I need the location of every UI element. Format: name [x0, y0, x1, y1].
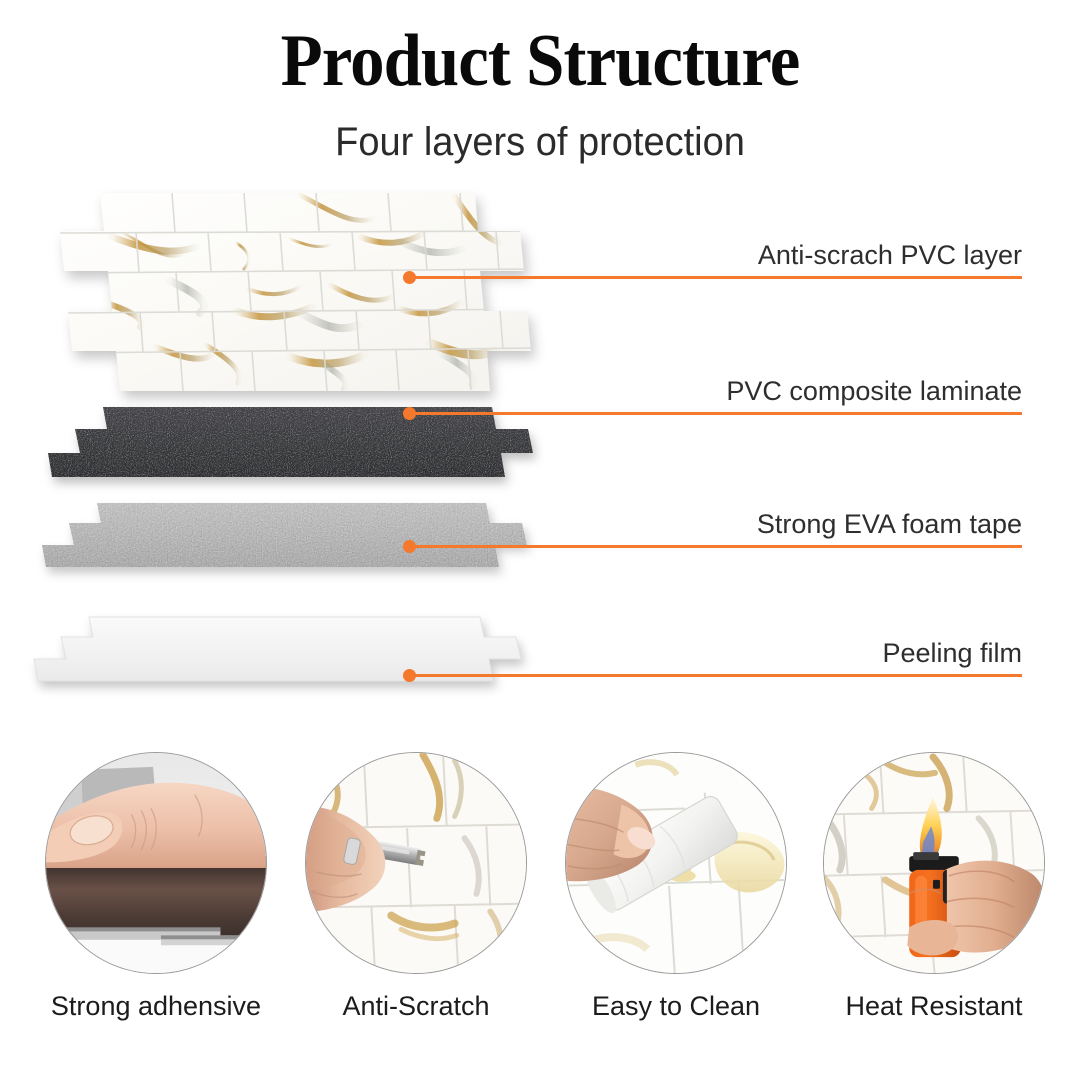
photo-key-scratching-tile — [306, 753, 526, 973]
layer-label-text: Anti-scrach PVC layer — [758, 240, 1022, 271]
layer-label-anti-scratch-pvc: Anti-scrach PVC layer — [622, 218, 1022, 278]
feature-strong-adhesive[interactable]: Strong adhensive — [42, 752, 270, 1022]
feature-heat-resistant[interactable]: Heat Resistant — [820, 752, 1048, 1022]
layer-label-rule — [622, 674, 1022, 676]
page-title: Product Structure — [38, 0, 1042, 98]
header: Product Structure Four layers of protect… — [0, 0, 1080, 162]
feature-row: Strong adhensive — [0, 752, 1080, 1080]
feature-photo-strong-adhesive — [45, 752, 267, 974]
feature-caption: Heat Resistant — [820, 991, 1048, 1022]
feature-caption: Easy to Clean — [562, 991, 790, 1022]
layer-label-eva-foam-tape: Strong EVA foam tape — [622, 487, 1022, 547]
layer-label-peeling-film: Peeling film — [622, 616, 1022, 676]
exploded-layer-stack — [0, 185, 560, 730]
layer-eva-foam-tape — [42, 503, 527, 567]
layer-label-text: Strong EVA foam tape — [757, 509, 1022, 540]
layer-stack-svg — [0, 185, 560, 730]
layer-label-rule — [622, 412, 1022, 414]
layer-label-rule — [622, 545, 1022, 547]
layer-label-rule — [622, 276, 1022, 278]
feature-photo-heat-resistant — [823, 752, 1045, 974]
photo-lighter-flame-tile — [824, 753, 1044, 973]
layer-pvc-composite-laminate — [48, 407, 533, 477]
feature-easy-to-clean[interactable]: Easy to Clean — [562, 752, 790, 1022]
feature-photo-anti-scratch — [305, 752, 527, 974]
photo-wiping-tile — [566, 753, 786, 973]
layer-label-pvc-composite-laminate: PVC composite laminate — [622, 354, 1022, 414]
product-structure-infographic: Product Structure Four layers of protect… — [0, 0, 1080, 1080]
layer-label-text: Peeling film — [882, 638, 1022, 669]
feature-caption: Strong adhensive — [42, 991, 270, 1022]
layer-peeling-film — [34, 617, 521, 681]
feature-photo-easy-to-clean — [565, 752, 787, 974]
feature-anti-scratch[interactable]: Anti-Scratch — [302, 752, 530, 1022]
feature-caption: Anti-Scratch — [302, 991, 530, 1022]
layer-anti-scratch-pvc — [40, 185, 550, 400]
layer-label-text: PVC composite laminate — [726, 376, 1022, 407]
photo-hand-pressing-tile — [46, 753, 266, 973]
page-subtitle: Four layers of protection — [27, 98, 1053, 162]
